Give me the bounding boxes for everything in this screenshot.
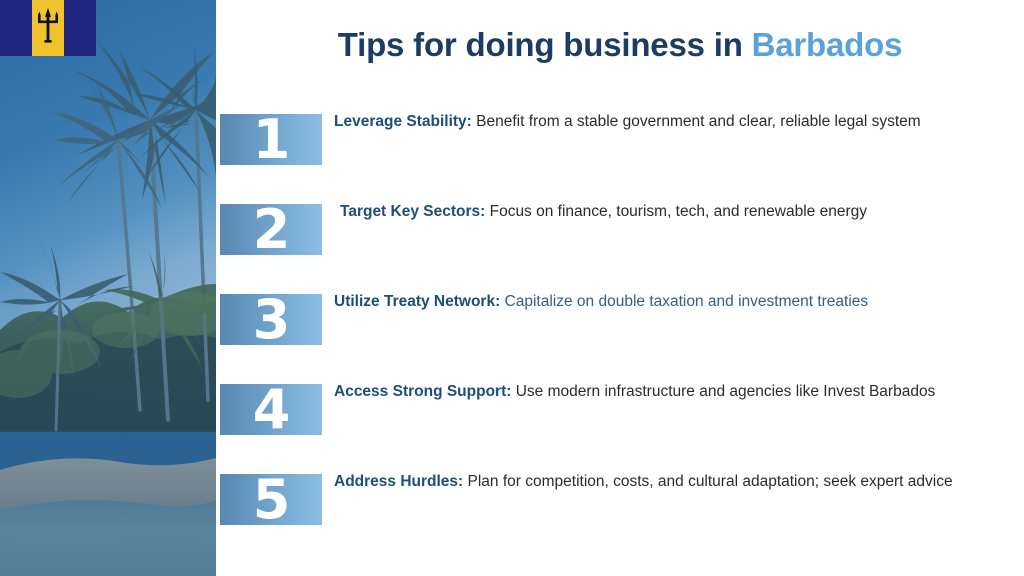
photo-illustration [0, 0, 216, 576]
tip-body: Capitalize on double taxation and invest… [500, 293, 868, 310]
tip-body: Plan for competition, costs, and cultura… [463, 473, 952, 490]
tip-lead: Access Strong Support: [334, 383, 511, 400]
tip-body: Use modern infrastructure and agencies l… [511, 383, 935, 400]
tip-text: Target Key Sectors: Focus on finance, to… [340, 200, 1016, 224]
tip-lead: Utilize Treaty Network: [334, 293, 500, 310]
tip-number-badge: 2 [220, 204, 322, 255]
tip-number: 3 [220, 294, 322, 345]
list-item: 4 Access Strong Support: Use modern infr… [216, 368, 1024, 458]
content-panel: Tips for doing business in Barbados 1 Le… [216, 0, 1024, 576]
tip-number: 2 [220, 204, 322, 255]
list-item: 1 Leverage Stability: Benefit from a sta… [216, 98, 1024, 188]
tip-number-badge: 4 [220, 384, 322, 435]
title-main: Tips for doing business in [338, 26, 752, 63]
tip-text: Leverage Stability: Benefit from a stabl… [334, 110, 1010, 134]
tip-body: Focus on finance, tourism, tech, and ren… [485, 203, 867, 220]
tip-number-badge: 1 [220, 114, 322, 165]
list-item: 2 Target Key Sectors: Focus on finance, … [216, 188, 1024, 278]
list-item: 5 Address Hurdles: Plan for competition,… [216, 458, 1024, 548]
tip-lead: Address Hurdles: [334, 473, 463, 490]
tip-number-badge: 5 [220, 474, 322, 525]
list-item: 3 Utilize Treaty Network: Capitalize on … [216, 278, 1024, 368]
palm-trees-beach-photo [0, 0, 216, 576]
tip-body: Benefit from a stable government and cle… [472, 113, 921, 130]
tip-number: 4 [220, 384, 322, 435]
title-accent: Barbados [752, 26, 903, 63]
tips-list: 1 Leverage Stability: Benefit from a sta… [216, 98, 1024, 548]
barbados-flag [0, 0, 96, 56]
page-title: Tips for doing business in Barbados [216, 26, 1024, 64]
tip-number: 1 [220, 114, 322, 165]
tip-lead: Target Key Sectors: [340, 203, 485, 220]
tip-lead: Leverage Stability: [334, 113, 472, 130]
tip-text: Access Strong Support: Use modern infras… [334, 380, 1010, 404]
tip-text: Address Hurdles: Plan for competition, c… [334, 470, 1010, 494]
tip-number-badge: 3 [220, 294, 322, 345]
slide-root: Tips for doing business in Barbados 1 Le… [0, 0, 1024, 576]
tip-number: 5 [220, 474, 322, 525]
tip-text: Utilize Treaty Network: Capitalize on do… [334, 290, 1010, 314]
